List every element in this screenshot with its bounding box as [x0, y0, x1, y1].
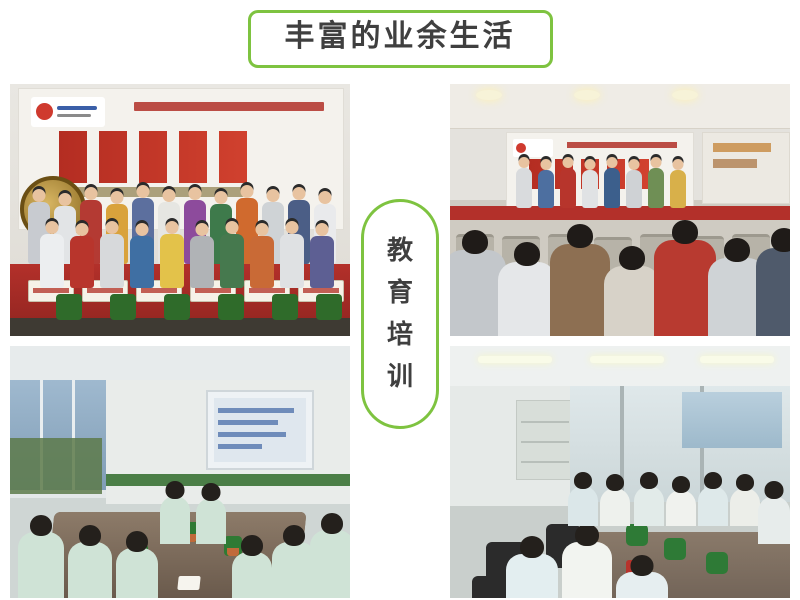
person [310, 530, 350, 598]
person [160, 234, 184, 288]
person [634, 486, 664, 526]
person [698, 486, 728, 526]
banner-subline [134, 102, 324, 111]
title-badge: 丰富的业余生活 [248, 10, 553, 68]
photo-group-stage [10, 84, 350, 336]
projection-screen [702, 132, 790, 204]
person [604, 168, 620, 208]
person [130, 236, 154, 288]
potted-plant [316, 294, 342, 320]
banner-subline [567, 142, 677, 148]
potted-plant [110, 294, 136, 320]
person [670, 170, 686, 208]
person [582, 170, 598, 208]
person [626, 170, 642, 208]
person [616, 572, 668, 598]
person [18, 532, 64, 598]
potted-plant [706, 552, 728, 574]
wall-trim [106, 474, 350, 486]
ceiling-light-icon [476, 90, 502, 100]
person [498, 262, 556, 336]
potted-plant [56, 294, 82, 320]
banner-headline [59, 131, 259, 183]
ceiling-light-icon [700, 356, 774, 363]
person [730, 488, 760, 526]
person [280, 234, 304, 288]
person [196, 498, 226, 544]
person [506, 554, 558, 598]
person [68, 542, 112, 598]
ceiling-light-icon [478, 356, 552, 363]
person [232, 552, 272, 598]
person [40, 234, 64, 288]
ceiling-light-icon [672, 90, 698, 100]
potted-plant [626, 524, 648, 546]
window [682, 392, 782, 448]
person [568, 486, 598, 526]
hall-ceiling [450, 84, 790, 129]
center-label-char-2: 育 [387, 272, 413, 314]
storage-cabinet [516, 400, 574, 480]
person [600, 488, 630, 526]
center-label-badge: 教 育 培 训 [361, 199, 439, 429]
person [70, 236, 94, 288]
person [190, 236, 214, 288]
company-logo-icon [513, 139, 553, 157]
potted-plant [164, 294, 190, 320]
audience-group [450, 216, 790, 336]
paper-sheet [177, 576, 200, 590]
person [516, 168, 532, 208]
potted-plant [218, 294, 244, 320]
person [116, 548, 158, 598]
company-logo-icon [31, 97, 105, 127]
person [220, 234, 244, 288]
page-header: 丰富的业余生活 [0, 0, 800, 78]
outdoor-greenery [10, 438, 102, 494]
person [758, 496, 790, 544]
room-ceiling [450, 346, 790, 387]
photo-meeting-room-projector [10, 346, 350, 598]
person [562, 542, 612, 598]
potted-plant [272, 294, 298, 320]
person [648, 168, 664, 208]
stage-banner [506, 132, 694, 210]
person [666, 490, 696, 526]
person [250, 236, 274, 288]
projection-screen [206, 390, 314, 470]
person [604, 266, 660, 336]
person [310, 236, 334, 288]
ceiling-light-icon [590, 356, 664, 363]
potted-plant [664, 538, 686, 560]
stage-floor [10, 318, 350, 336]
center-label-char-4: 训 [387, 356, 413, 398]
center-label-char-1: 教 [387, 230, 413, 272]
person [654, 240, 716, 336]
center-label-char-3: 培 [387, 314, 413, 356]
room-ceiling [10, 346, 350, 381]
photo-office-training-room [450, 346, 790, 598]
photo-grid: 教 育 培 训 [0, 84, 800, 600]
person [550, 244, 610, 336]
person [756, 248, 790, 336]
person [160, 496, 190, 544]
page-title: 丰富的业余生活 [285, 20, 516, 54]
ceiling-light-icon [574, 90, 600, 100]
person [560, 168, 576, 208]
person [100, 234, 124, 288]
photo-audience-hall [450, 84, 790, 336]
person [538, 170, 554, 208]
